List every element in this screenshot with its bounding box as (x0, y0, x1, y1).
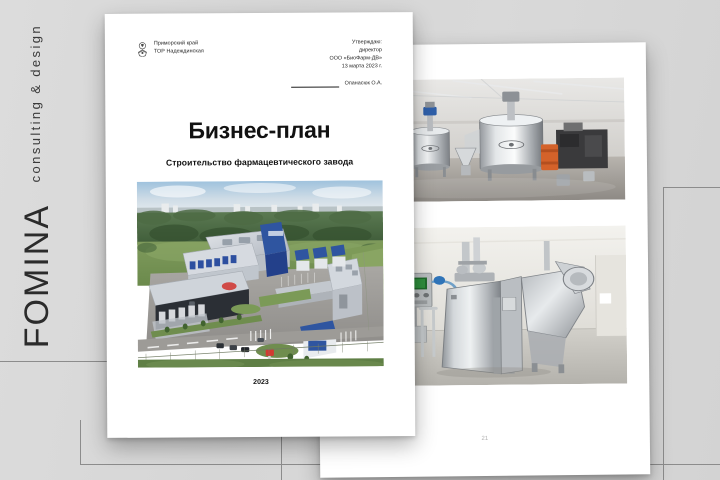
frame-line-right-top (663, 187, 720, 188)
signatory-name: Опанасюк О.А. (345, 80, 383, 88)
brand-mark: FOMINA consulting & design (8, 18, 78, 348)
photo-aerial-plant (137, 181, 384, 368)
cover-header: Приморский край ТОР Надеждинская Утвержд… (136, 39, 382, 89)
organization-text: Приморский край ТОР Надеждинская (154, 40, 204, 56)
frame-line-bottom-left (80, 420, 81, 465)
document-page-cover[interactable]: Приморский край ТОР Надеждинская Утвержд… (105, 12, 416, 438)
organization-region: Приморский край (154, 40, 204, 48)
organization-block: Приморский край ТОР Надеждинская (136, 40, 204, 56)
brand-name: FOMINA (18, 204, 57, 348)
brand-tagline: consulting & design (28, 24, 43, 182)
presentation-canvas: FOMINA consulting & design ...изводству … (0, 0, 720, 480)
approval-date: 13 марта 2023 г. (291, 63, 383, 71)
page-subtitle: Строительство фармацевтического завода (137, 157, 383, 169)
signature-line (291, 82, 339, 88)
coat-of-arms-icon (136, 42, 149, 57)
page-title: Бизнес-план (136, 117, 382, 146)
approval-block: Утверждаю: директор ООО «БиоФарм-ДВ» 13 … (290, 39, 382, 88)
approval-company: ООО «БиоФарм-ДВ» (290, 55, 382, 63)
frame-line-right-left (663, 187, 664, 480)
organization-zone: ТОР Надеждинская (154, 48, 204, 56)
signature-row: Опанасюк О.А. (291, 80, 383, 88)
cover-year: 2023 (138, 379, 384, 388)
